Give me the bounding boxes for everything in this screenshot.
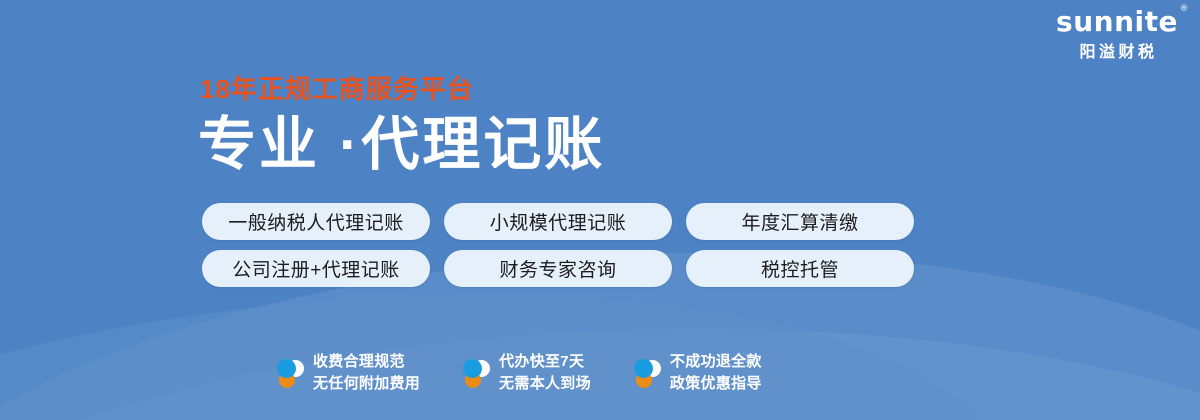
brand-chinese-name: 阳溢财税 [1056,45,1178,61]
registered-trademark-icon: ® [1180,5,1190,14]
service-pill-company-registration[interactable]: 公司注册+代理记账 [202,250,430,287]
feature-line-2: 无任何附加费用 [313,373,420,395]
service-pill-general-taxpayer[interactable]: 一般纳税人代理记账 [202,203,430,240]
feature-item-guarantee: 不成功退全款 政策优惠指导 [633,351,762,395]
feature-list: 收费合理规范 无任何附加费用 代办快至7天 无需本人到场 不成功退全款 [276,351,762,395]
service-pill-tax-control-hosting[interactable]: 税控托管 [686,250,914,287]
promo-banner: sunnite ® 阳溢财税 18年正规工商服务平台 专业 ·代理记账 一般纳税… [0,0,1200,420]
brand-wordmark: sunnite ® [1056,8,1178,36]
feature-item-speed: 代办快至7天 无需本人到场 [462,351,591,395]
circle-badge-icon [462,356,490,390]
brand-logo[interactable]: sunnite ® 阳溢财税 [1056,8,1178,61]
feature-line-2: 无需本人到场 [499,373,591,395]
feature-text-speed: 代办快至7天 无需本人到场 [499,351,591,395]
feature-line-1: 代办快至7天 [499,351,591,373]
feature-item-pricing: 收费合理规范 无任何附加费用 [276,351,420,395]
hero-eyebrow: 18年正规工商服务平台 [200,76,474,102]
feature-line-1: 收费合理规范 [313,351,420,373]
service-pill-annual-settlement[interactable]: 年度汇算清缴 [686,203,914,240]
feature-text-guarantee: 不成功退全款 政策优惠指导 [670,351,762,395]
feature-line-1: 不成功退全款 [670,351,762,373]
brand-wordmark-text: sunnite [1056,5,1178,38]
circle-badge-icon [633,356,661,390]
feature-text-pricing: 收费合理规范 无任何附加费用 [313,351,420,395]
feature-line-2: 政策优惠指导 [670,373,762,395]
service-pill-grid: 一般纳税人代理记账 小规模代理记账 年度汇算清缴 公司注册+代理记账 财务专家咨… [202,203,914,287]
service-pill-financial-consulting[interactable]: 财务专家咨询 [444,250,672,287]
circle-badge-icon [276,356,304,390]
hero-headline: 专业 ·代理记账 [198,112,605,179]
service-pill-small-scale[interactable]: 小规模代理记账 [444,203,672,240]
